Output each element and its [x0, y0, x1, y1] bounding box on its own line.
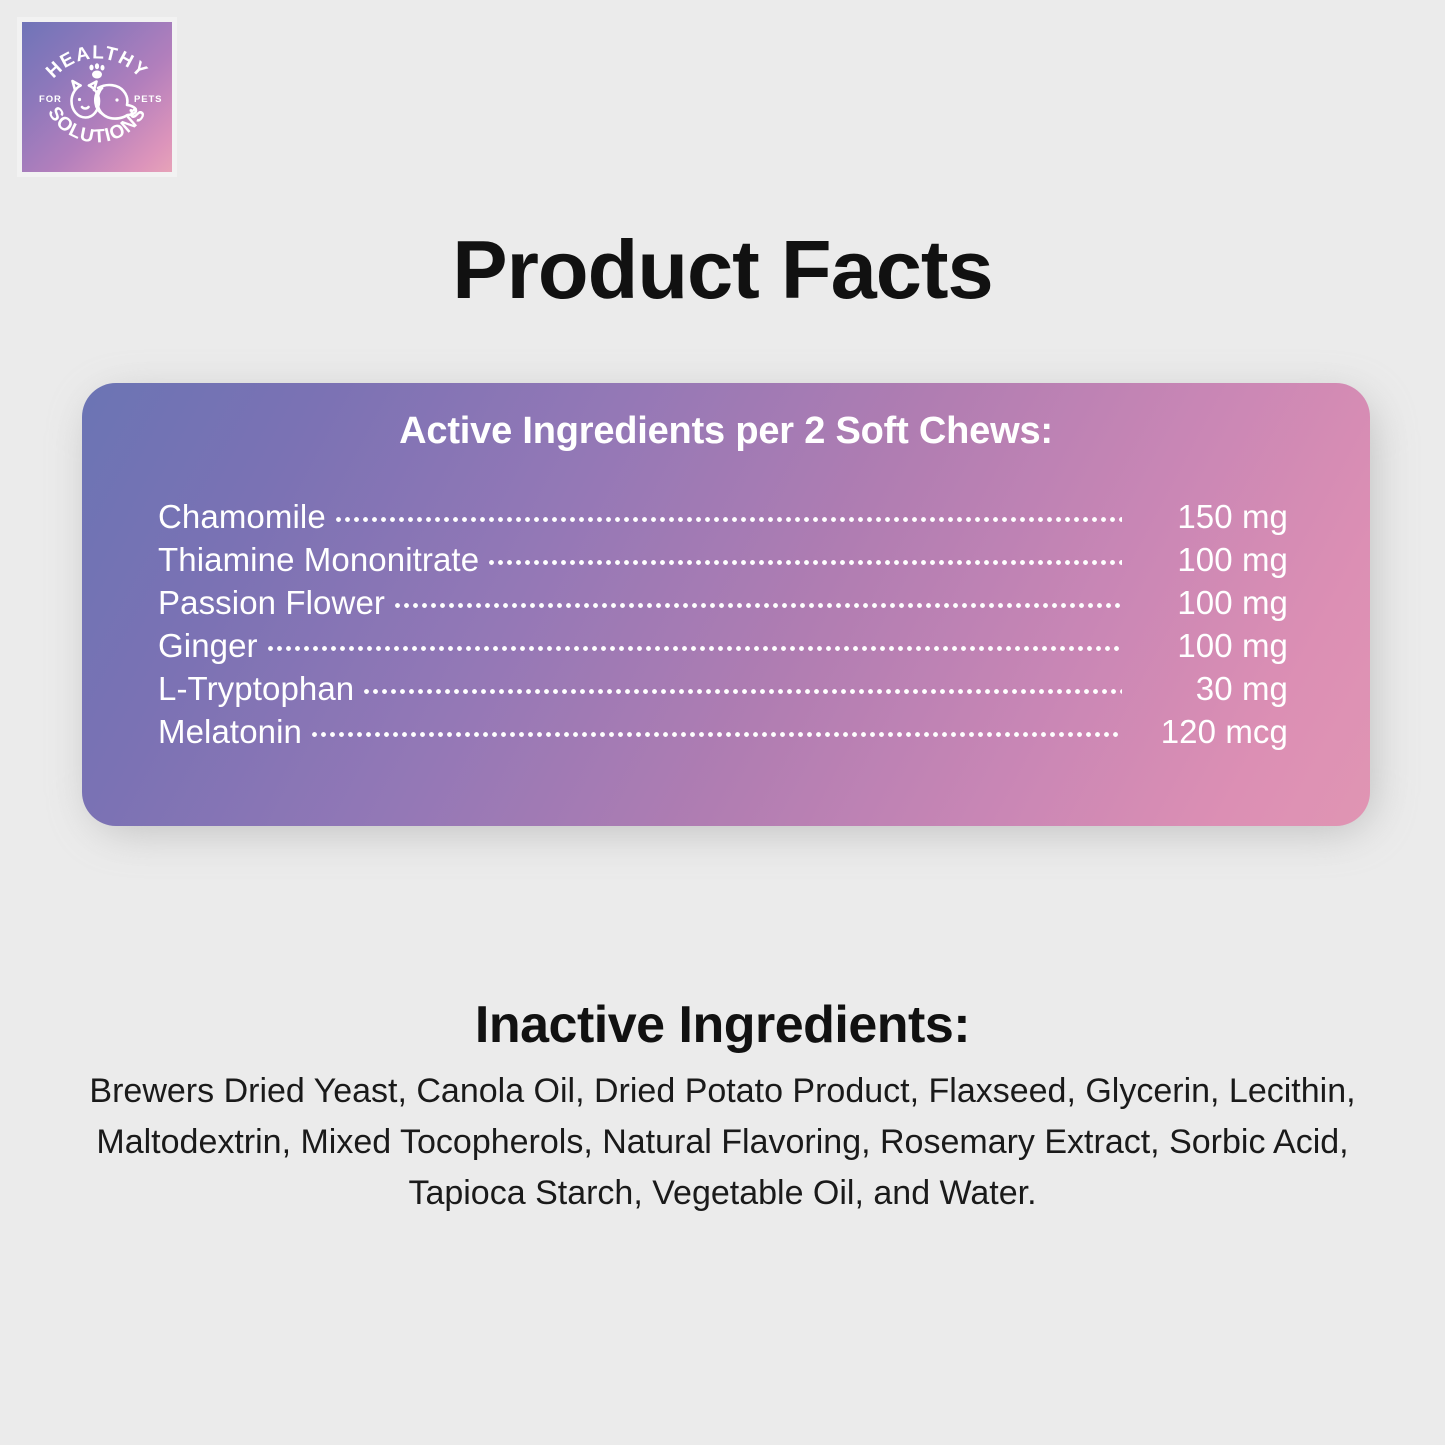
active-ingredients-header: Active Ingredients per 2 Soft Chews:	[82, 410, 1370, 453]
ingredient-name: Passion Flower	[158, 584, 385, 622]
inactive-ingredients-text: Brewers Dried Yeast, Canola Oil, Dried P…	[70, 1066, 1375, 1219]
dot-leader	[312, 710, 1122, 743]
logo-right-text: PETS	[134, 94, 162, 105]
ingredient-row: L-Tryptophan 30 mg	[158, 667, 1288, 710]
active-ingredients-panel: Active Ingredients per 2 Soft Chews: Cha…	[82, 383, 1370, 826]
dot-leader	[364, 667, 1122, 700]
ingredient-row: Melatonin 120 mcg	[158, 710, 1288, 753]
page-title: Product Facts	[0, 222, 1445, 318]
logo-artwork: HEALTHY SOLUTIONS FOR PETS	[22, 22, 172, 172]
ingredient-name: L-Tryptophan	[158, 670, 354, 708]
ingredient-amount: 100 mg	[1128, 541, 1288, 579]
ingredient-name: Thiamine Mononitrate	[158, 541, 479, 579]
ingredient-row: Chamomile 150 mg	[158, 495, 1288, 538]
ingredient-row: Passion Flower 100 mg	[158, 581, 1288, 624]
dot-leader	[395, 581, 1122, 614]
logo-gradient-tile: HEALTHY SOLUTIONS FOR PETS	[22, 22, 172, 172]
active-ingredients-list: Chamomile 150 mg Thiamine Mononitrate 10…	[158, 495, 1288, 753]
dot-leader	[268, 624, 1122, 657]
ingredient-amount: 150 mg	[1128, 498, 1288, 536]
dog-head-icon	[95, 85, 136, 119]
ingredient-amount: 100 mg	[1128, 627, 1288, 665]
ingredient-row: Thiamine Mononitrate 100 mg	[158, 538, 1288, 581]
inactive-ingredients-line: Tapioca Starch, Vegetable Oil, and Water…	[70, 1168, 1375, 1219]
brand-logo: HEALTHY SOLUTIONS FOR PETS	[17, 17, 177, 177]
ingredient-amount: 30 mg	[1128, 670, 1288, 708]
dot-leader	[336, 495, 1122, 528]
logo-left-text: FOR	[39, 94, 62, 105]
paw-print-icon	[89, 63, 104, 78]
inactive-ingredients-title: Inactive Ingredients:	[0, 995, 1445, 1055]
ingredient-row: Ginger 100 mg	[158, 624, 1288, 667]
inactive-ingredients-line: Maltodextrin, Mixed Tocopherols, Natural…	[70, 1117, 1375, 1168]
ingredient-name: Melatonin	[158, 713, 302, 751]
dot-leader	[489, 538, 1122, 571]
ingredient-name: Chamomile	[158, 498, 326, 536]
ingredient-amount: 100 mg	[1128, 584, 1288, 622]
ingredient-name: Ginger	[158, 627, 258, 665]
inactive-ingredients-line: Brewers Dried Yeast, Canola Oil, Dried P…	[70, 1066, 1375, 1117]
ingredient-amount: 120 mcg	[1128, 713, 1288, 751]
